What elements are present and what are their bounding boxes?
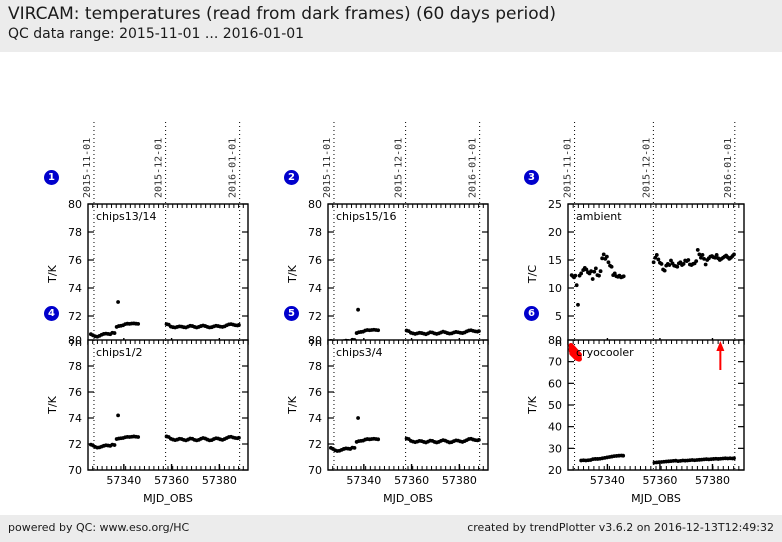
x-tick-label: 57380 bbox=[202, 474, 237, 487]
x-axis-label: MJD_OBS bbox=[631, 492, 681, 505]
footer-band: powered by QC: www.eso.org/HC created by… bbox=[0, 515, 782, 542]
y-tick-label: 60 bbox=[548, 377, 562, 390]
data-series bbox=[116, 414, 120, 418]
y-tick-label: 20 bbox=[548, 464, 562, 477]
panel-number-badge-4: 4 bbox=[44, 306, 59, 321]
y-tick-label: 80 bbox=[548, 334, 562, 347]
y-axis-label: T/K bbox=[286, 264, 299, 283]
y-tick-label: 78 bbox=[68, 226, 82, 239]
y-tick-label: 76 bbox=[308, 254, 322, 267]
y-axis-label: T/C bbox=[526, 265, 539, 284]
y-axis-label: T/K bbox=[286, 395, 299, 414]
panel-title-label: chips1/2 bbox=[96, 346, 143, 359]
y-tick-label: 74 bbox=[308, 282, 322, 295]
y-tick-label: 76 bbox=[68, 254, 82, 267]
y-tick-label: 76 bbox=[308, 386, 322, 399]
footer-powered-by: powered by QC: www.eso.org/HC bbox=[8, 521, 189, 534]
y-tick-label: 74 bbox=[68, 412, 82, 425]
y-tick-label: 15 bbox=[548, 254, 562, 267]
x-tick-label: 57380 bbox=[442, 474, 477, 487]
y-tick-label: 78 bbox=[308, 226, 322, 239]
panel-title-label: chips3/4 bbox=[336, 346, 383, 359]
panel-number-badge-6: 6 bbox=[524, 306, 539, 321]
x-tick-label: 57380 bbox=[695, 474, 730, 487]
y-tick-label: 80 bbox=[68, 198, 82, 211]
x-tick-label: 57340 bbox=[346, 474, 381, 487]
footer-created-by: created by trendPlotter v3.6.2 on 2016-1… bbox=[467, 521, 774, 534]
y-tick-label: 76 bbox=[68, 386, 82, 399]
date-axis-label: 2015-12-01 bbox=[641, 138, 652, 198]
chart-panel-4: 4573405736057380707274767880T/Kchips1/2M… bbox=[44, 304, 256, 514]
y-tick-label: 20 bbox=[548, 226, 562, 239]
y-tick-label: 80 bbox=[308, 198, 322, 211]
date-axis-label: 2015-11-01 bbox=[322, 138, 333, 198]
date-axis-label: 2016-01-01 bbox=[228, 138, 239, 198]
y-tick-label: 30 bbox=[548, 442, 562, 455]
chart-panel-6: 657340573605738020304050607080T/Kcryocoo… bbox=[524, 304, 752, 514]
date-axis-label: 2015-12-01 bbox=[154, 138, 165, 198]
y-tick-label: 78 bbox=[308, 360, 322, 373]
data-series bbox=[356, 416, 360, 420]
header-band: VIRCAM: temperatures (read from dark fra… bbox=[0, 0, 782, 52]
x-axis-label: MJD_OBS bbox=[383, 492, 433, 505]
y-tick-label: 70 bbox=[548, 356, 562, 369]
panel-number-badge-5: 5 bbox=[284, 306, 299, 321]
y-tick-label: 10 bbox=[548, 282, 562, 295]
chart-svg-5: 573405736057380707274767880T/Kchips3/4MJ… bbox=[284, 304, 496, 514]
page-title: VIRCAM: temperatures (read from dark fra… bbox=[8, 4, 556, 24]
y-axis-label: T/K bbox=[46, 264, 59, 283]
y-tick-label: 70 bbox=[308, 464, 322, 477]
y-tick-label: 74 bbox=[68, 282, 82, 295]
date-axis-label: 2016-01-01 bbox=[723, 138, 734, 198]
panel-number-badge-2: 2 bbox=[284, 170, 299, 185]
panel-title-label: chips15/16 bbox=[336, 210, 397, 223]
y-tick-label: 50 bbox=[548, 399, 562, 412]
chart-panel-5: 5573405736057380707274767880T/Kchips3/4M… bbox=[284, 304, 496, 514]
x-tick-label: 57340 bbox=[590, 474, 625, 487]
panel-number-badge-3: 3 bbox=[524, 170, 539, 185]
x-tick-label: 57360 bbox=[394, 474, 429, 487]
x-axis-label: MJD_OBS bbox=[143, 492, 193, 505]
panel-title-label: ambient bbox=[576, 210, 622, 223]
x-tick-label: 57340 bbox=[106, 474, 141, 487]
x-tick-label: 57360 bbox=[154, 474, 189, 487]
chart-svg-4: 573405736057380707274767880T/Kchips1/2MJ… bbox=[44, 304, 256, 514]
y-tick-label: 25 bbox=[548, 198, 562, 211]
date-axis-label: 2015-11-01 bbox=[82, 138, 93, 198]
date-axis-label: 2015-11-01 bbox=[563, 138, 574, 198]
panel-title-label: cryocooler bbox=[576, 346, 634, 359]
y-tick-label: 74 bbox=[308, 412, 322, 425]
y-tick-label: 72 bbox=[68, 438, 82, 451]
y-tick-label: 72 bbox=[308, 438, 322, 451]
page-subtitle: QC data range: 2015-11-01 ... 2016-01-01 bbox=[8, 26, 304, 42]
y-axis-label: T/K bbox=[46, 395, 59, 414]
x-tick-label: 57360 bbox=[642, 474, 677, 487]
y-tick-label: 70 bbox=[68, 464, 82, 477]
y-tick-label: 78 bbox=[68, 360, 82, 373]
plot-canvas: 12015-11-012015-12-012016-01-01573405736… bbox=[0, 52, 782, 515]
chart-svg-6: 57340573605738020304050607080T/Kcryocool… bbox=[524, 304, 752, 514]
date-axis-label: 2015-12-01 bbox=[394, 138, 405, 198]
panel-title-label: chips13/14 bbox=[96, 210, 157, 223]
y-tick-label: 40 bbox=[548, 421, 562, 434]
y-tick-label: 80 bbox=[308, 334, 322, 347]
date-axis-label: 2016-01-01 bbox=[468, 138, 479, 198]
y-tick-label: 80 bbox=[68, 334, 82, 347]
y-axis-label: T/K bbox=[526, 395, 539, 414]
panel-number-badge-1: 1 bbox=[44, 170, 59, 185]
